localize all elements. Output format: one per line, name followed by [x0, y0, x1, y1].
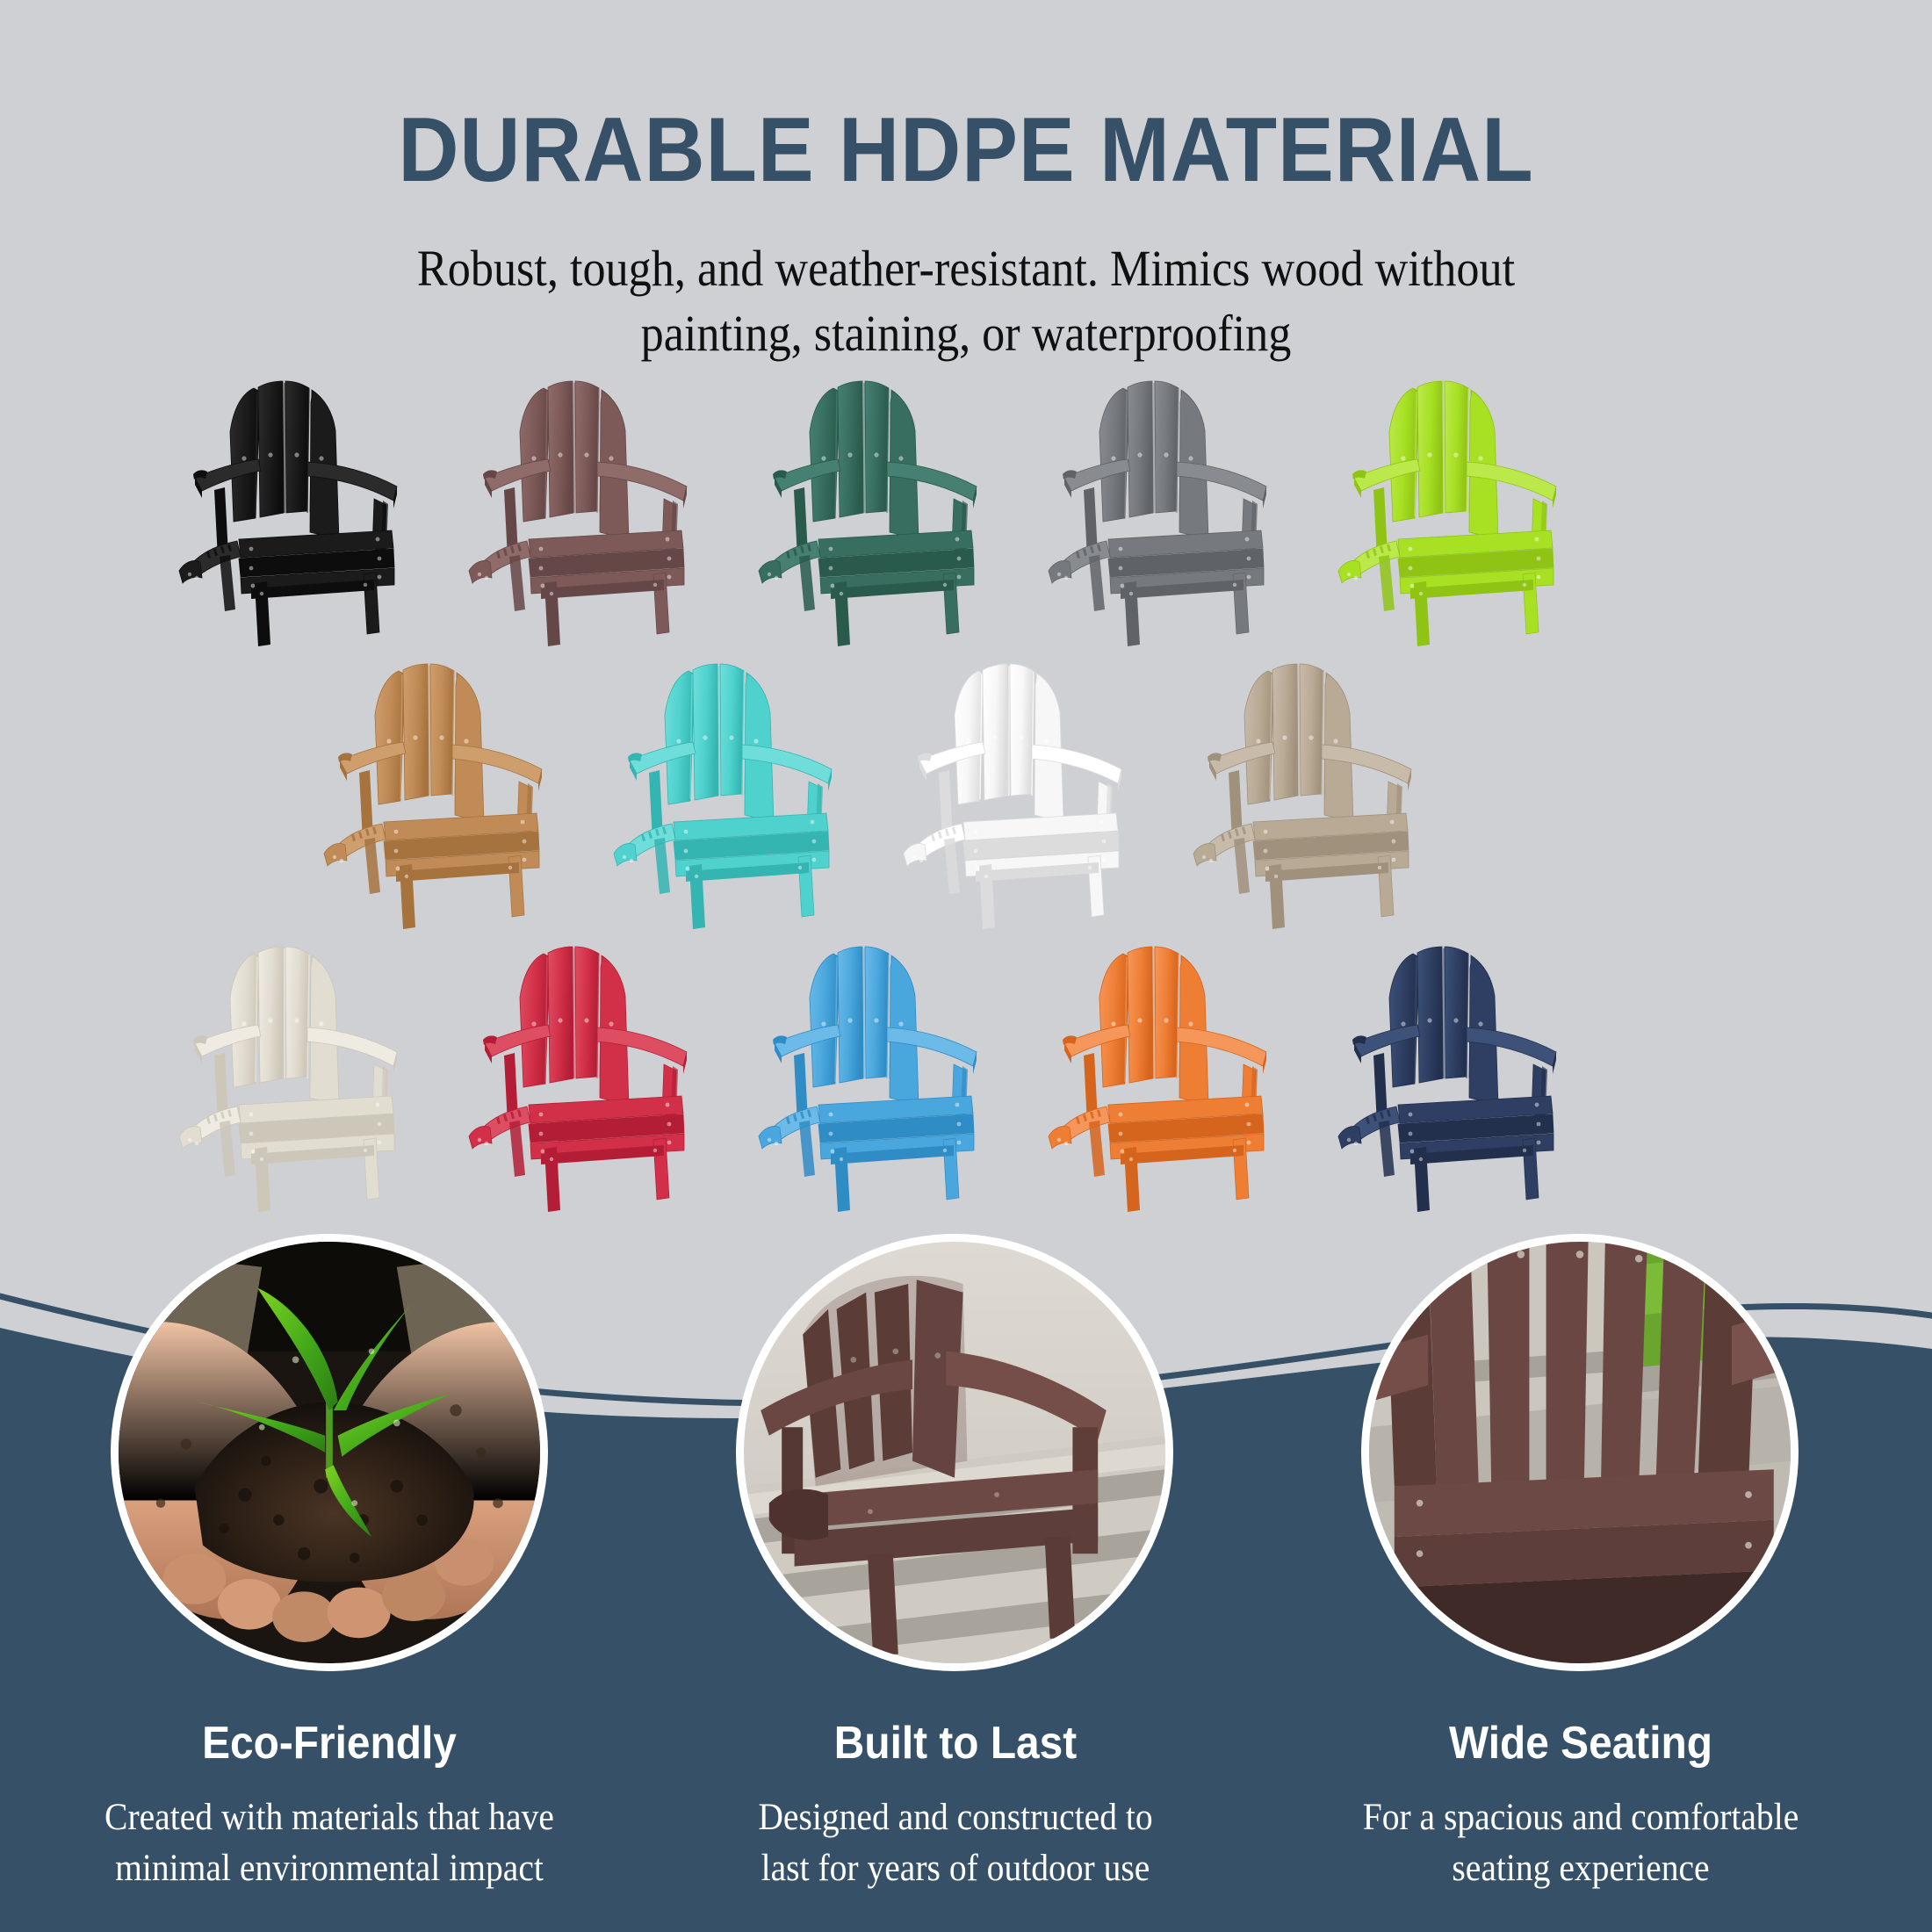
chair-svg	[1326, 933, 1598, 1212]
chair-svg	[602, 650, 874, 929]
chair-svg	[167, 367, 439, 646]
chair-svg	[457, 367, 729, 646]
chair-row-1	[0, 367, 1932, 646]
chair-swatch-white[interactable]	[891, 650, 1164, 929]
subtitle-line-2: painting, staining, or waterproofing	[97, 301, 1835, 366]
chair-color-grid	[0, 367, 1932, 1212]
chair-swatch-khaki[interactable]	[1181, 650, 1453, 929]
page-title: DURABLE HDPE MATERIAL	[77, 98, 1855, 203]
page-subtitle: Robust, tough, and weather-resistant. Mi…	[97, 236, 1835, 366]
chair-svg	[1326, 367, 1598, 646]
feature-desc-line-2: last for years of outdoor use	[697, 1843, 1215, 1894]
feature-title-wide-seating: Wide Seating	[1323, 1717, 1840, 1770]
feature-desc-line-1: For a spacious and comfortable	[1323, 1792, 1840, 1843]
feature-title-built-to-last: Built to Last	[697, 1717, 1215, 1770]
chair-swatch-navy[interactable]	[1326, 933, 1598, 1212]
photo-brown-adirondack-chair-on-patio	[744, 1242, 1165, 1663]
feature-photo-wide-seating	[1361, 1234, 1799, 1671]
chair-svg	[457, 933, 729, 1212]
chair-svg	[1181, 650, 1453, 929]
chair-swatch-black[interactable]	[167, 367, 439, 646]
chair-svg	[1036, 367, 1308, 646]
chair-swatch-teak[interactable]	[312, 650, 584, 929]
feature-photo-eco-friendly	[111, 1234, 548, 1671]
feature-desc-line-1: Created with materials that have	[71, 1792, 588, 1843]
feature-desc-eco-friendly: Created with materials that have minimal…	[71, 1792, 588, 1893]
photo-hands-holding-seedling-in-soil	[119, 1242, 540, 1663]
chair-swatch-brown[interactable]	[457, 367, 729, 646]
chair-svg	[167, 933, 439, 1212]
chair-swatch-ivory[interactable]	[167, 933, 439, 1212]
chair-swatch-gray[interactable]	[1036, 367, 1308, 646]
subtitle-line-1: Robust, tough, and weather-resistant. Mi…	[97, 236, 1835, 301]
chair-swatch-red[interactable]	[457, 933, 729, 1212]
chair-swatch-dark-green[interactable]	[746, 367, 1019, 646]
feature-desc-line-1: Designed and constructed to	[697, 1792, 1215, 1843]
feature-desc-wide-seating: For a spacious and comfortable seating e…	[1323, 1792, 1840, 1893]
feature-desc-line-2: minimal environmental impact	[71, 1843, 588, 1894]
chair-svg	[1036, 933, 1308, 1212]
feature-title-eco-friendly: Eco-Friendly	[71, 1717, 588, 1770]
chair-svg	[891, 650, 1164, 929]
header-section: DURABLE HDPE MATERIAL Robust, tough, and…	[0, 0, 1932, 366]
chair-swatch-turquoise[interactable]	[602, 650, 874, 929]
feature-block-eco-friendly: Eco-Friendly Created with materials that…	[48, 1717, 610, 1893]
photo-closeup-wide-chair-seat-with-lawn	[1369, 1242, 1791, 1663]
feature-desc-built-to-last: Designed and constructed to last for yea…	[697, 1792, 1215, 1893]
chair-swatch-lime-green[interactable]	[1326, 367, 1598, 646]
chair-row-2	[0, 650, 1932, 929]
chair-svg	[746, 933, 1019, 1212]
chair-svg	[746, 367, 1019, 646]
feature-block-built-to-last: Built to Last Designed and constructed t…	[674, 1717, 1236, 1893]
chair-row-3	[0, 933, 1932, 1212]
feature-desc-line-2: seating experience	[1323, 1843, 1840, 1894]
chair-swatch-orange[interactable]	[1036, 933, 1308, 1212]
feature-photo-built-to-last	[736, 1234, 1173, 1671]
chair-swatch-light-blue[interactable]	[746, 933, 1019, 1212]
chair-svg	[312, 650, 584, 929]
feature-block-wide-seating: Wide Seating For a spacious and comforta…	[1300, 1717, 1862, 1893]
